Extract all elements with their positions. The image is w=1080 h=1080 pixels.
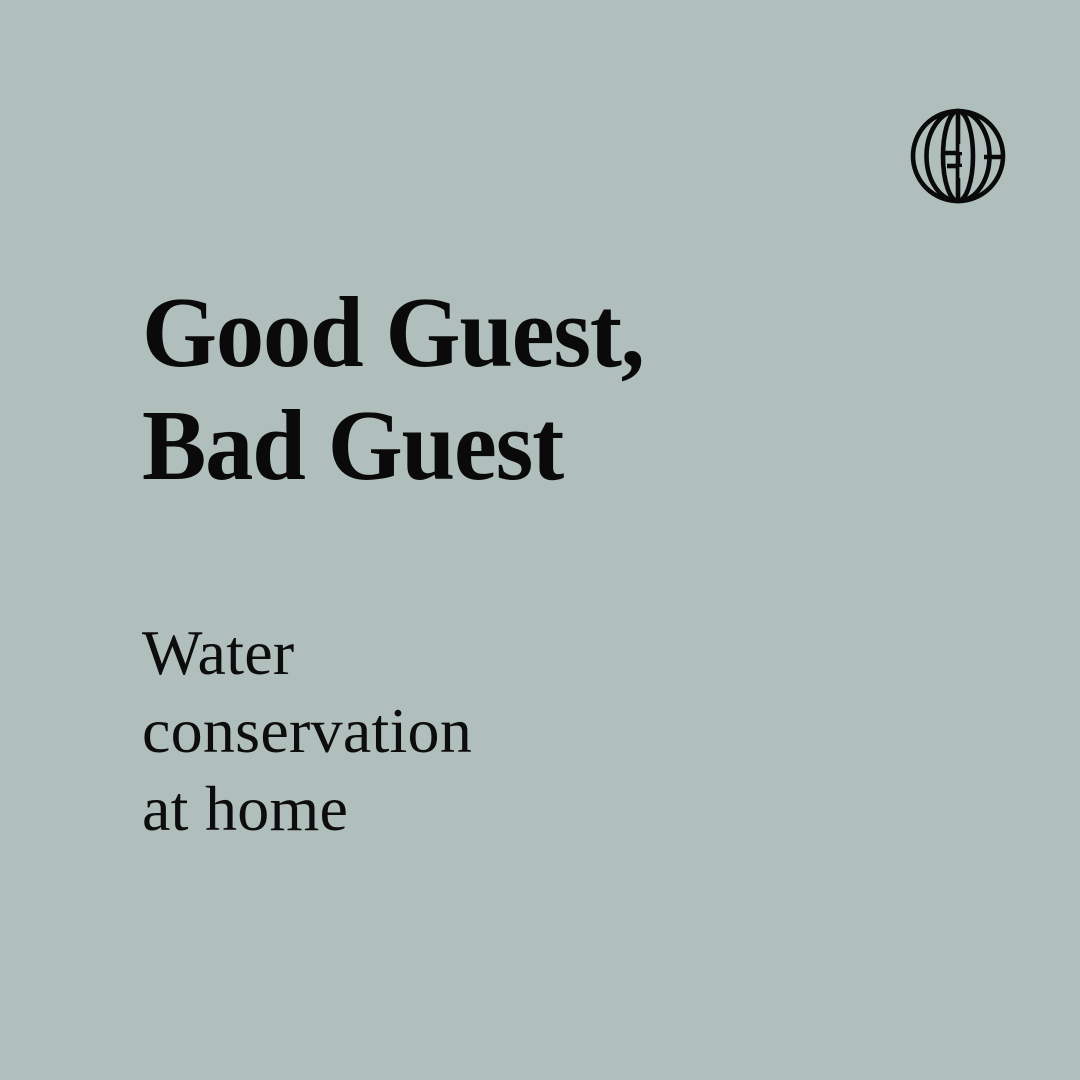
- poster-canvas: Good Guest, Bad Guest Water conservation…: [0, 0, 1080, 1080]
- subtitle-line-1: Water: [142, 614, 702, 692]
- headline-line-2: Bad Guest: [142, 389, 925, 502]
- subtitle: Water conservation at home: [142, 614, 702, 848]
- subtitle-line-2: conservation: [142, 692, 702, 770]
- globe-monogram-icon: [906, 108, 1010, 204]
- brand-logo[interactable]: [906, 108, 1010, 204]
- headline: Good Guest, Bad Guest: [142, 276, 962, 502]
- subtitle-line-3: at home: [142, 770, 702, 848]
- headline-line-1: Good Guest,: [142, 276, 925, 389]
